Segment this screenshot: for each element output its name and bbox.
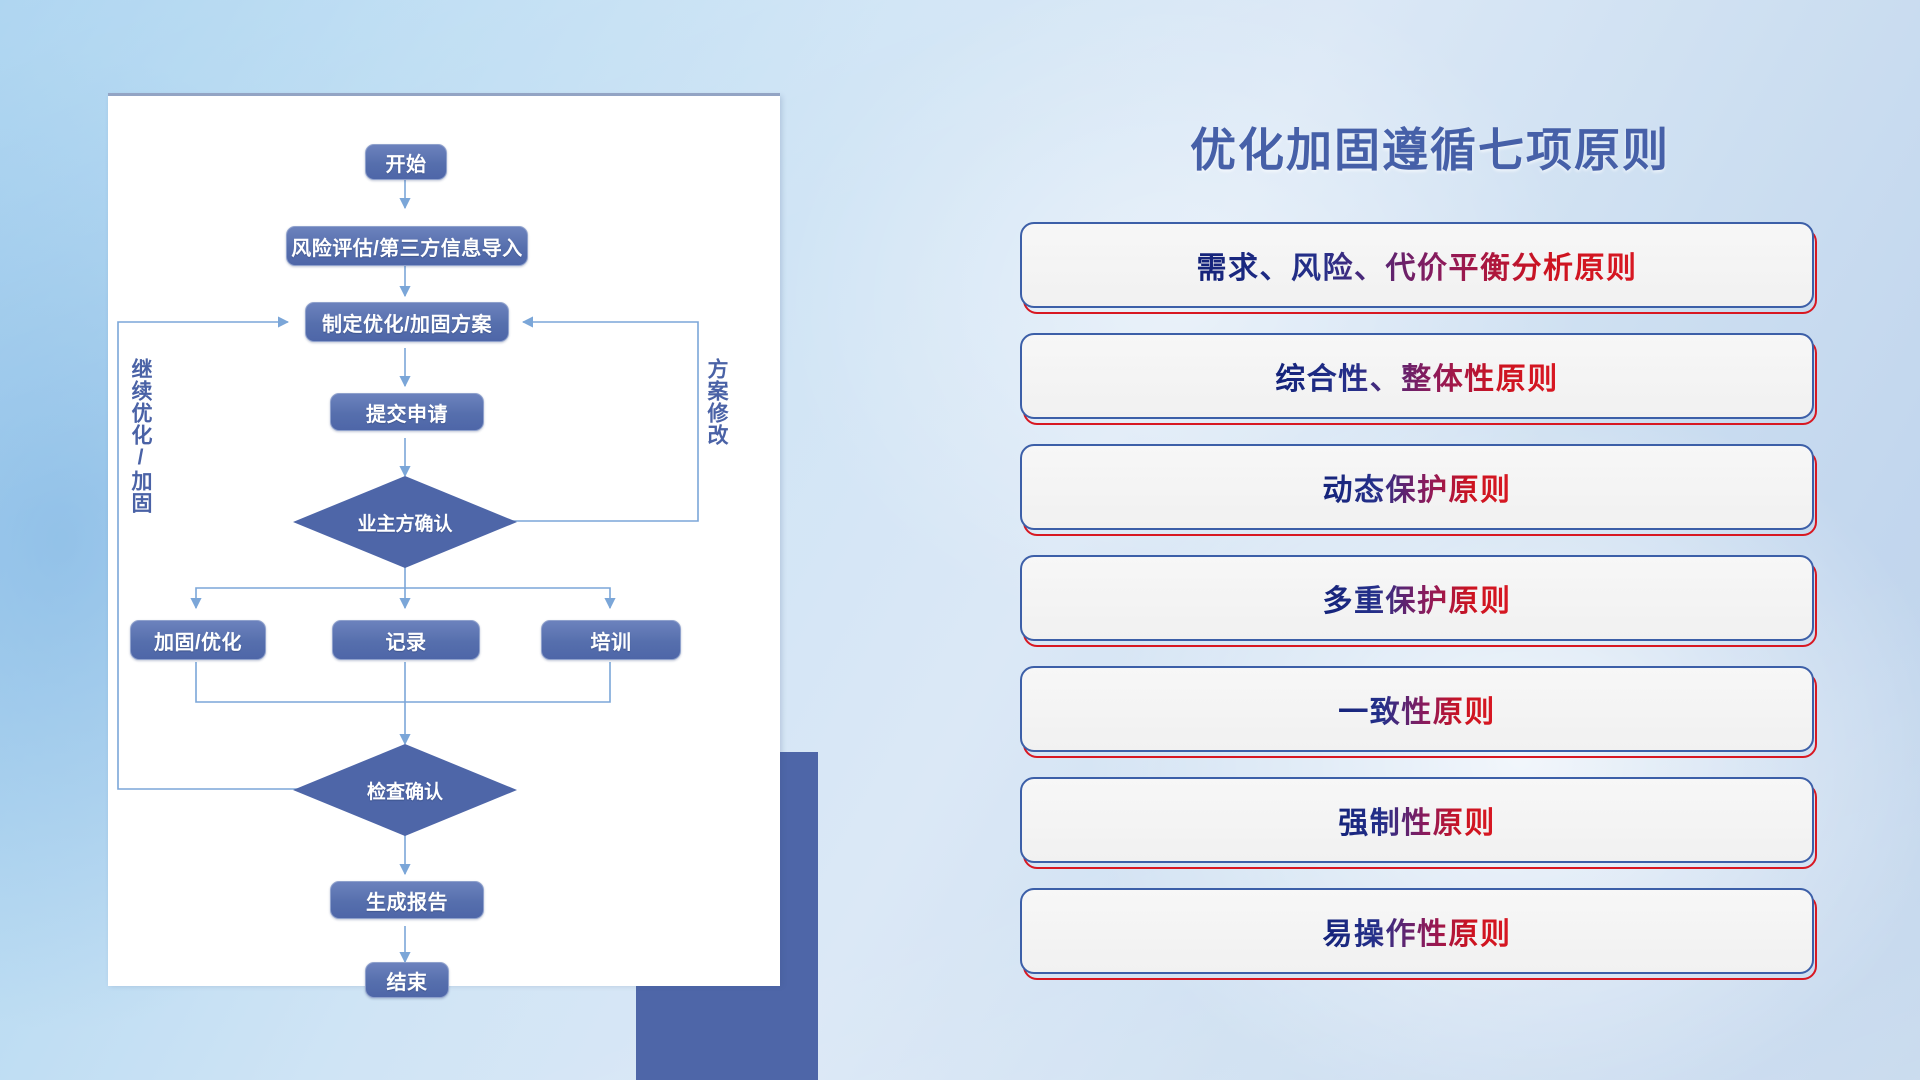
flow-node-label: 检查确认 bbox=[367, 777, 443, 804]
flow-node-end[interactable]: 结束 bbox=[365, 962, 449, 998]
flow-node-submit-application[interactable]: 提交申请 bbox=[330, 393, 484, 431]
list-item[interactable]: 综合性、整体性原则 bbox=[1020, 333, 1840, 423]
flow-node-record[interactable]: 记录 bbox=[332, 620, 480, 660]
flow-node-label: 提交申请 bbox=[366, 398, 448, 427]
principle-card[interactable]: 一致性原则 bbox=[1020, 666, 1814, 752]
list-item[interactable]: 多重保护原则 bbox=[1020, 555, 1840, 645]
principle-label: 综合性、整体性原则 bbox=[1275, 354, 1559, 398]
list-item[interactable]: 易操作性原则 bbox=[1020, 888, 1840, 978]
page-title: 优化加固遵循七项原则 bbox=[1020, 114, 1840, 180]
flow-node-label: 记录 bbox=[386, 626, 427, 655]
principle-label: 动态保护原则 bbox=[1323, 465, 1512, 509]
flow-node-label: 结束 bbox=[387, 966, 428, 995]
principle-label: 易操作性原则 bbox=[1323, 909, 1512, 953]
flow-node-training[interactable]: 培训 bbox=[541, 620, 681, 660]
flow-node-label: 加固/优化 bbox=[154, 626, 242, 655]
flow-node-reinforce[interactable]: 加固/优化 bbox=[130, 620, 266, 660]
flow-node-risk-assessment[interactable]: 风险评估/第三方信息导入 bbox=[286, 226, 528, 266]
flow-node-make-plan[interactable]: 制定优化/加固方案 bbox=[305, 302, 509, 342]
list-item[interactable]: 需求、风险、代价平衡分析原则 bbox=[1020, 222, 1840, 312]
principle-card[interactable]: 需求、风险、代价平衡分析原则 bbox=[1020, 222, 1814, 308]
flowchart-panel: 开始 风险评估/第三方信息导入 制定优化/加固方案 提交申请 业主方确认 加固/… bbox=[108, 96, 780, 992]
flow-node-label: 培训 bbox=[591, 626, 632, 655]
principles-panel: 优化加固遵循七项原则 需求、风险、代价平衡分析原则 综合性、整体性原则 动态保护… bbox=[1020, 96, 1840, 1036]
flow-edge-label-plan-revision: 方案修改 bbox=[706, 358, 727, 446]
list-item[interactable]: 动态保护原则 bbox=[1020, 444, 1840, 534]
flow-node-label: 业主方确认 bbox=[357, 509, 452, 536]
principle-label: 一致性原则 bbox=[1338, 687, 1496, 731]
principle-card[interactable]: 强制性原则 bbox=[1020, 777, 1814, 863]
flow-node-label: 生成报告 bbox=[366, 886, 448, 915]
principle-card[interactable]: 综合性、整体性原则 bbox=[1020, 333, 1814, 419]
flow-node-start[interactable]: 开始 bbox=[365, 144, 447, 180]
flow-edge-label-continue-optimize: 继续优化/加固 bbox=[130, 358, 151, 514]
flow-node-label: 制定优化/加固方案 bbox=[322, 308, 492, 337]
flow-node-label: 开始 bbox=[386, 148, 427, 177]
principle-list: 需求、风险、代价平衡分析原则 综合性、整体性原则 动态保护原则 多重保护原则 bbox=[1020, 222, 1840, 999]
principle-card[interactable]: 动态保护原则 bbox=[1020, 444, 1814, 530]
principle-card[interactable]: 多重保护原则 bbox=[1020, 555, 1814, 641]
flow-node-generate-report[interactable]: 生成报告 bbox=[330, 881, 484, 919]
principle-label: 需求、风险、代价平衡分析原则 bbox=[1197, 243, 1638, 287]
slide-canvas: 开始 风险评估/第三方信息导入 制定优化/加固方案 提交申请 业主方确认 加固/… bbox=[0, 0, 1920, 1080]
list-item[interactable]: 一致性原则 bbox=[1020, 666, 1840, 756]
principle-label: 强制性原则 bbox=[1338, 798, 1496, 842]
principle-card[interactable]: 易操作性原则 bbox=[1020, 888, 1814, 974]
flow-node-label: 风险评估/第三方信息导入 bbox=[291, 232, 523, 261]
principle-label: 多重保护原则 bbox=[1323, 576, 1512, 620]
list-item[interactable]: 强制性原则 bbox=[1020, 777, 1840, 867]
